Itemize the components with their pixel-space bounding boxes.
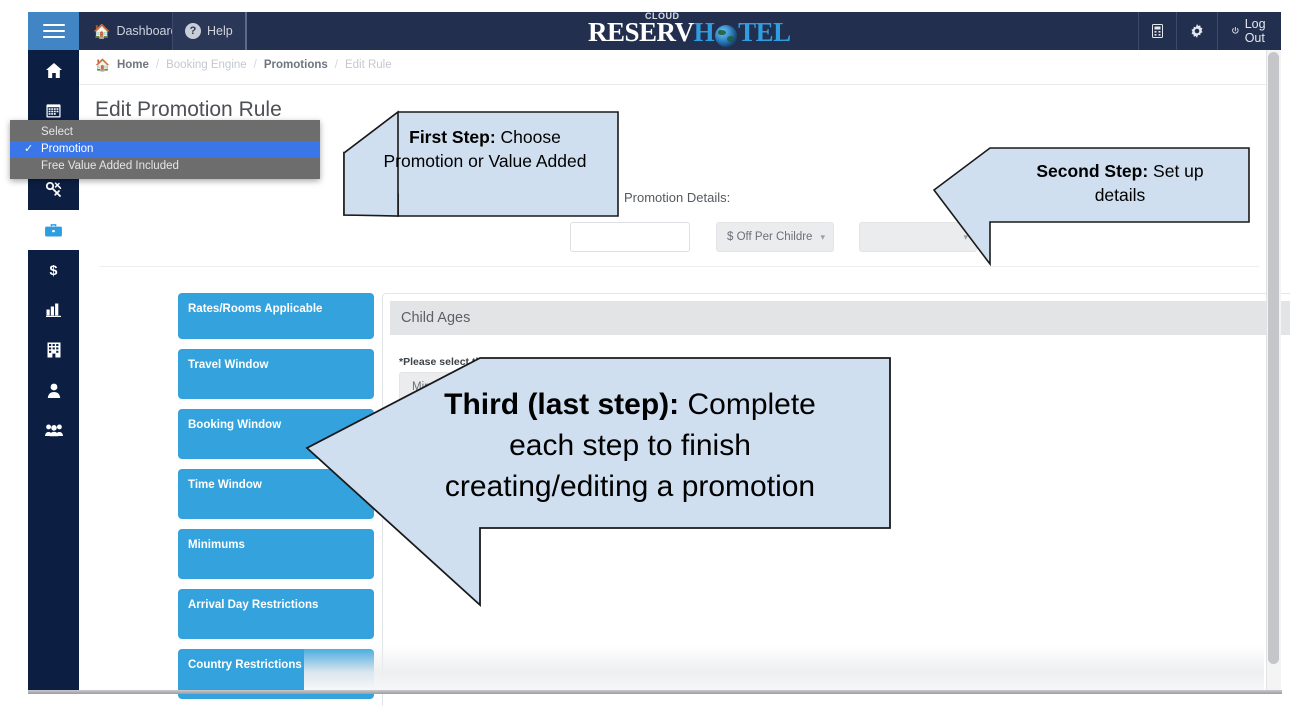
callout-first-step-point	[344, 112, 398, 216]
app-root: 🏠 Dashboard ? Help CLOUD RESERV H TEL	[0, 0, 1290, 706]
callout-second-step-shape	[934, 148, 1249, 264]
callout-arrows-layer	[0, 0, 1290, 706]
callout-third-step-shape	[307, 358, 890, 605]
